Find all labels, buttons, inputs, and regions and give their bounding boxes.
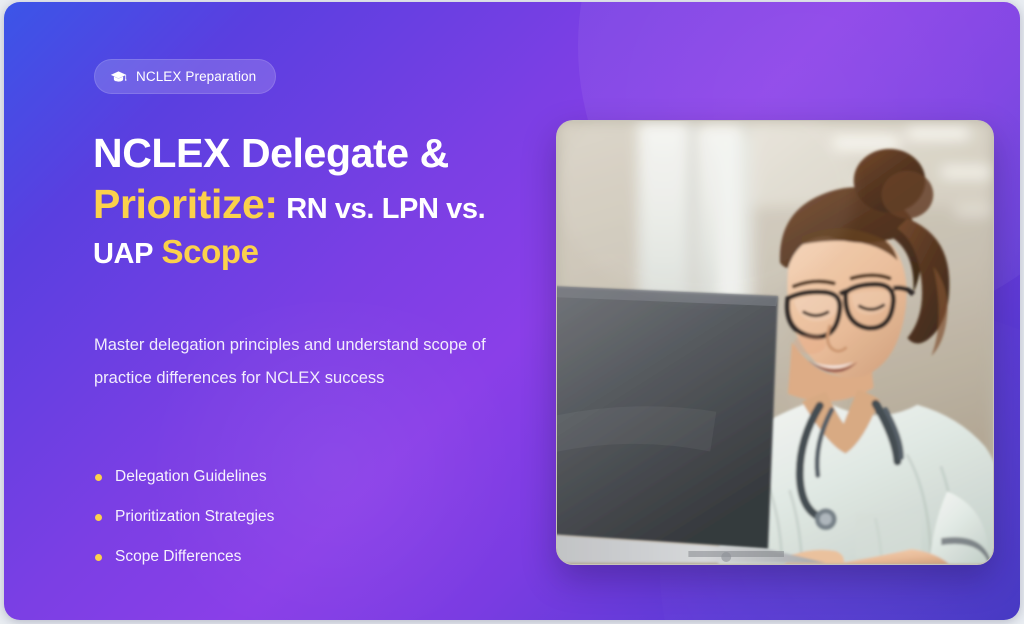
hero-subtitle: Master delegation principles and underst… [94, 329, 514, 394]
bullet-dot-icon [95, 554, 102, 561]
feature-label: Delegation Guidelines [115, 468, 267, 486]
feature-list: Delegation Guidelines Prioritization Str… [95, 457, 274, 577]
page-title: NCLEX Delegate & Prioritize: RN vs. LPN … [93, 128, 553, 272]
hero-text-column: NCLEX Preparation NCLEX Delegate & Prior… [90, 2, 560, 620]
feature-label: Scope Differences [115, 548, 241, 566]
nclex-preparation-badge[interactable]: NCLEX Preparation [94, 59, 276, 94]
headline-part-1: NCLEX Delegate & [93, 130, 449, 176]
graduation-cap-icon [110, 70, 127, 84]
hero-banner: NCLEX Preparation NCLEX Delegate & Prior… [4, 2, 1020, 620]
headline-part-3: RN vs. LPN vs. [286, 193, 485, 225]
badge-label: NCLEX Preparation [136, 69, 256, 84]
headline-part-4: UAP [93, 238, 153, 270]
bullet-dot-icon [95, 514, 102, 521]
headline-part-2: Prioritize: [93, 181, 278, 227]
bullet-dot-icon [95, 474, 102, 481]
hero-image [556, 120, 994, 565]
headline-part-5: Scope [162, 233, 259, 270]
list-item: Prioritization Strategies [95, 497, 274, 537]
list-item: Delegation Guidelines [95, 457, 274, 497]
list-item: Scope Differences [95, 537, 274, 577]
feature-label: Prioritization Strategies [115, 508, 274, 526]
